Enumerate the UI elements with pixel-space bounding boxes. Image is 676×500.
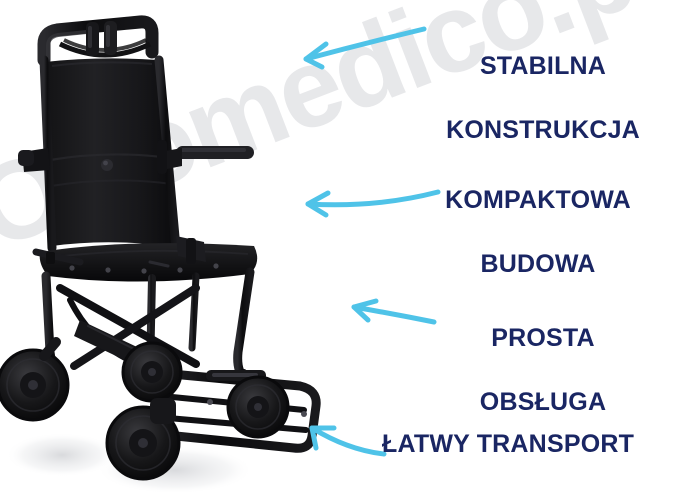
callout-prosta-obsluga: PROSTA OBSŁUGA [420,290,666,450]
callout-kompaktowa-budowa: KOMPAKTOWA BUDOWA [410,152,666,312]
wheel-rear-right [123,343,181,401]
callout-line-1: KOMPAKTOWA [410,184,666,216]
wheel-rear-left [0,342,68,420]
callout-line-2: KONSTRUKCJA [420,114,666,146]
callout-latwy-transport: ŁATWY TRANSPORT [382,428,672,460]
callout-line-1: ŁATWY TRANSPORT [382,428,672,460]
product-photo [0,0,340,500]
callout-line-1: PROSTA [420,322,666,354]
callout-line-1: STABILNA [420,50,666,82]
promo-image: Ortomedico.pl [0,0,676,500]
callout-line-2: BUDOWA [410,248,666,280]
wheel-front-right [228,377,288,437]
backrest [44,58,176,248]
callout-line-2: OBSŁUGA [420,386,666,418]
wheel-front-left [107,398,179,479]
push-handles [44,21,152,60]
